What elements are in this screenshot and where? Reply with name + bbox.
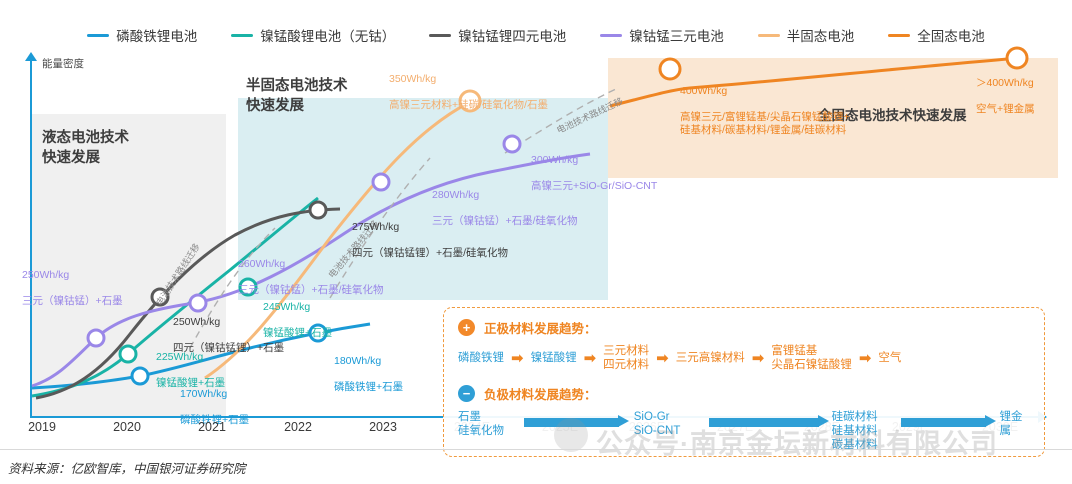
- annotation-180: 180Wh/kg 磷酸铁锂+石墨: [334, 342, 403, 407]
- marker-280: [373, 174, 389, 190]
- annotation-400-plus: ＞400Wh/kg 空气+锂金属: [976, 64, 1035, 129]
- legend-label-ncm: 镍钴锰三元电池: [629, 25, 724, 45]
- legend-item-lnmo: 镍锰酸锂电池（无钴）: [231, 25, 395, 45]
- legend-item-semisolid: 半固态电池: [758, 25, 855, 45]
- watermark-text: 公众号·南京金坛新材料有限公司: [596, 422, 998, 461]
- cathode-title: 正极材料发展趋势：: [484, 318, 597, 337]
- cathode-step-1: 磷酸铁锂: [458, 351, 504, 365]
- marker-300: [504, 136, 520, 152]
- annotation-180-value: 180Wh/kg: [334, 355, 403, 368]
- annotation-170-value: 170Wh/kg: [180, 388, 249, 401]
- legend-item-lfp: 磷酸铁锂电池: [87, 25, 197, 45]
- legend-label-solidstate: 全固态电池: [917, 25, 985, 45]
- footer-divider: [0, 449, 1072, 450]
- x-tick-2021: 2021: [198, 420, 226, 434]
- cathode-step-2: 镍锰酸锂: [531, 351, 577, 365]
- annotation-180-material: 磷酸铁锂+石墨: [334, 381, 403, 394]
- marker-275: [310, 202, 326, 218]
- annotation-400-value: 400Wh/kg: [680, 85, 849, 98]
- legend-swatch-lnmo: [231, 34, 253, 37]
- annotation-260-material: 三元（镍钴锰）+石墨/硅氧化物: [238, 284, 384, 297]
- legend-label-quaternary: 镍钴锰锂四元电池: [458, 25, 566, 45]
- annotation-275-material: 四元（镍钴锰锂）+石墨/硅氧化物: [352, 247, 508, 260]
- legend-label-lnmo: 镍锰酸锂电池（无钴）: [260, 25, 395, 45]
- anode-title: 负极材料发展趋势：: [484, 384, 597, 403]
- anode-step-4: 锂金属: [1000, 410, 1033, 438]
- legend-item-quaternary: 镍钴锰锂四元电池: [429, 25, 566, 45]
- watermark-avatar: [554, 418, 588, 452]
- annotation-250-ncm-value: 250Wh/kg: [22, 269, 123, 282]
- legend-label-semisolid: 半固态电池: [787, 25, 855, 45]
- legend-label-lfp: 磷酸铁锂电池: [116, 25, 197, 45]
- plot-area: 液态电池技术 快速发展 半固态电池技术 快速发展 全固态电池技术快速发展 能量密…: [0, 48, 1072, 428]
- annotation-280-material: 三元（镍钴锰）+石墨/硅氧化物: [432, 215, 578, 228]
- marker-225: [120, 346, 136, 362]
- annotation-350-value: 350Wh/kg: [389, 73, 548, 86]
- x-tick-2022: 2022: [284, 420, 312, 434]
- legend-swatch-semisolid: [758, 34, 780, 37]
- annotation-300-value: 300Wh/kg: [531, 154, 657, 167]
- annotation-350: 350Wh/kg 高镍三元材料+硅碳/硅氧化物/石墨: [389, 60, 548, 125]
- minus-icon: −: [458, 385, 475, 402]
- cathode-header: + 正极材料发展趋势：: [458, 318, 597, 337]
- anode-header: − 负极材料发展趋势：: [458, 384, 597, 403]
- annotation-225-value: 225Wh/kg: [156, 351, 225, 364]
- annotation-350-material: 高镍三元材料+硅碳/硅氧化物/石墨: [389, 99, 548, 112]
- legend-swatch-quaternary: [429, 34, 451, 37]
- cathode-arrow-2: ➡: [584, 351, 597, 366]
- legend-swatch-solidstate: [888, 34, 910, 37]
- cathode-step-5: 富锂锰基 尖晶石镍锰酸锂: [771, 344, 852, 372]
- x-tick-2020: 2020: [113, 420, 141, 434]
- cathode-step-3: 三元材料 四元材料: [603, 344, 649, 372]
- cathode-step-6: 空气: [878, 351, 901, 365]
- legend-item-solidstate: 全固态电池: [888, 25, 985, 45]
- cathode-arrow-5: ➡: [859, 351, 872, 366]
- annotation-250-ncm-material: 三元（镍钴锰）+石墨: [22, 295, 123, 308]
- legend-swatch-ncm: [600, 34, 622, 37]
- annotation-400-plus-material: 空气+锂金属: [976, 103, 1035, 116]
- annotation-300-material: 高镍三元+SiO-Gr/SiO-CNT: [531, 180, 657, 193]
- legend-swatch-lfp: [87, 34, 109, 37]
- cathode-arrow-1: ➡: [511, 351, 524, 366]
- annotation-245-material: 镍锰酸锂+石墨: [263, 327, 332, 340]
- chart-root: 磷酸铁锂电池 镍锰酸锂电池（无钴） 镍钴锰锂四元电池 镍钴锰三元电池 半固态电池…: [0, 0, 1072, 484]
- legend-item-ncm: 镍钴锰三元电池: [600, 25, 724, 45]
- annotation-400: 400Wh/kg 高镍三元/富锂锰基/尖晶石镍锰酸锂+ 硅基材料/碳基材料/锂金…: [680, 72, 849, 150]
- x-tick-2019: 2019: [28, 420, 56, 434]
- anode-step-1: 石墨 硅氧化物: [458, 410, 524, 438]
- annotation-400-material: 高镍三元/富锂锰基/尖晶石镍锰酸锂+ 硅基材料/碳基材料/锂金属/硅碳材料: [680, 111, 849, 137]
- marker-170: [132, 368, 148, 384]
- x-tick-2023: 2023: [369, 420, 397, 434]
- marker-250-ncm: [88, 330, 104, 346]
- cathode-arrow-3: ➡: [656, 351, 669, 366]
- cathode-step-4: 三元高镍材料: [676, 351, 745, 365]
- annotation-400-plus-value: ＞400Wh/kg: [976, 77, 1035, 90]
- chart-legend: 磷酸铁锂电池 镍锰酸锂电池（无钴） 镍钴锰锂四元电池 镍钴锰三元电池 半固态电池…: [0, 22, 1072, 48]
- cathode-arrow-4: ➡: [752, 351, 765, 366]
- source-note: 资料来源：亿欧智库，中国银河证券研究院: [8, 458, 246, 477]
- plus-icon: +: [458, 319, 475, 336]
- annotation-250-ncm: 250Wh/kg 三元（镍钴锰）+石墨: [22, 256, 123, 321]
- annotation-300: 300Wh/kg 高镍三元+SiO-Gr/SiO-CNT: [531, 141, 657, 206]
- cathode-chain: 磷酸铁锂 ➡ 镍锰酸锂 ➡ 三元材料 四元材料 ➡ 三元高镍材料 ➡ 富锂锰基 …: [458, 344, 1033, 372]
- marker-400: [660, 59, 680, 79]
